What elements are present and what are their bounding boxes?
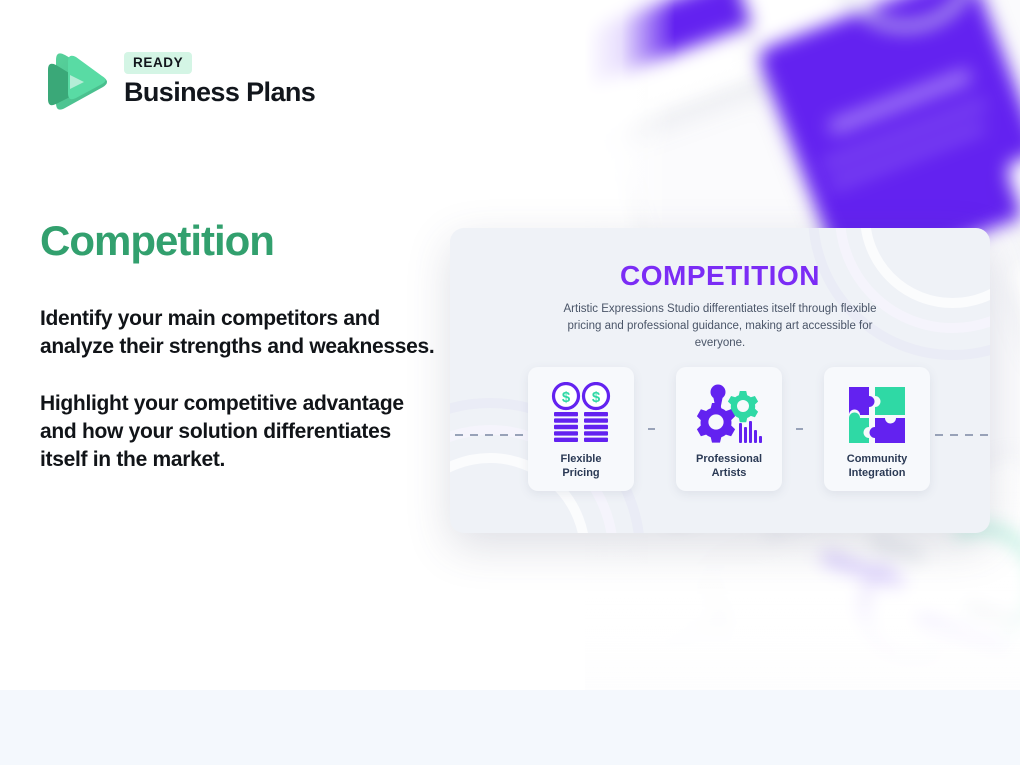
- bg-slide-card: [1009, 216, 1020, 360]
- dashed-connector-1: [648, 428, 662, 430]
- label-line-2: Integration: [849, 467, 906, 479]
- svg-text:$: $: [592, 389, 601, 406]
- label-line-1: Flexible: [561, 453, 602, 465]
- svg-text:$: $: [562, 389, 571, 406]
- brand-logo-block: READY Business Plans: [40, 42, 315, 116]
- ready-badge: READY: [124, 52, 192, 74]
- label-line-2: Pricing: [562, 467, 599, 479]
- feature-card-community-integration[interactable]: Community Integration: [824, 367, 930, 491]
- feature-cards-row: $ $: [528, 367, 930, 491]
- bottom-band: [0, 690, 1020, 765]
- body-paragraph-1: Identify your main competitors and analy…: [40, 305, 440, 362]
- slide-card[interactable]: COMPETITION Artistic Expressions Studio …: [450, 228, 990, 533]
- slide-subtitle: Artistic Expressions Studio differentiat…: [545, 301, 895, 352]
- slide-title: COMPETITION: [450, 260, 990, 292]
- page-title: Competition: [40, 218, 274, 264]
- body-paragraph-2: Highlight your competitive advantage and…: [40, 390, 440, 475]
- coin-stacks-icon: $ $: [550, 379, 612, 451]
- label-line-1: Community: [847, 453, 908, 465]
- feature-card-flexible-pricing[interactable]: $ $: [528, 367, 634, 491]
- body-copy: Identify your main competitors and analy…: [40, 305, 440, 475]
- feature-card-label: Professional Artists: [696, 453, 762, 481]
- label-line-1: Professional: [696, 453, 762, 465]
- brand-text: READY Business Plans: [124, 52, 315, 106]
- play-triangle-logo-icon: [40, 42, 110, 116]
- dashed-connector-left: [450, 434, 535, 436]
- brand-name: Business Plans: [124, 78, 315, 106]
- feature-card-label: Flexible Pricing: [561, 453, 602, 481]
- gears-lightbulb-chart-icon: [694, 379, 764, 451]
- puzzle-pieces-icon: [845, 379, 909, 451]
- feature-card-professional-artists[interactable]: Professional Artists: [676, 367, 782, 491]
- feature-card-label: Community Integration: [847, 453, 908, 481]
- dashed-connector-2: [796, 428, 810, 430]
- slide-preview-page: READY Business Plans Competition Identif…: [0, 0, 1020, 765]
- label-line-2: Artists: [712, 467, 747, 479]
